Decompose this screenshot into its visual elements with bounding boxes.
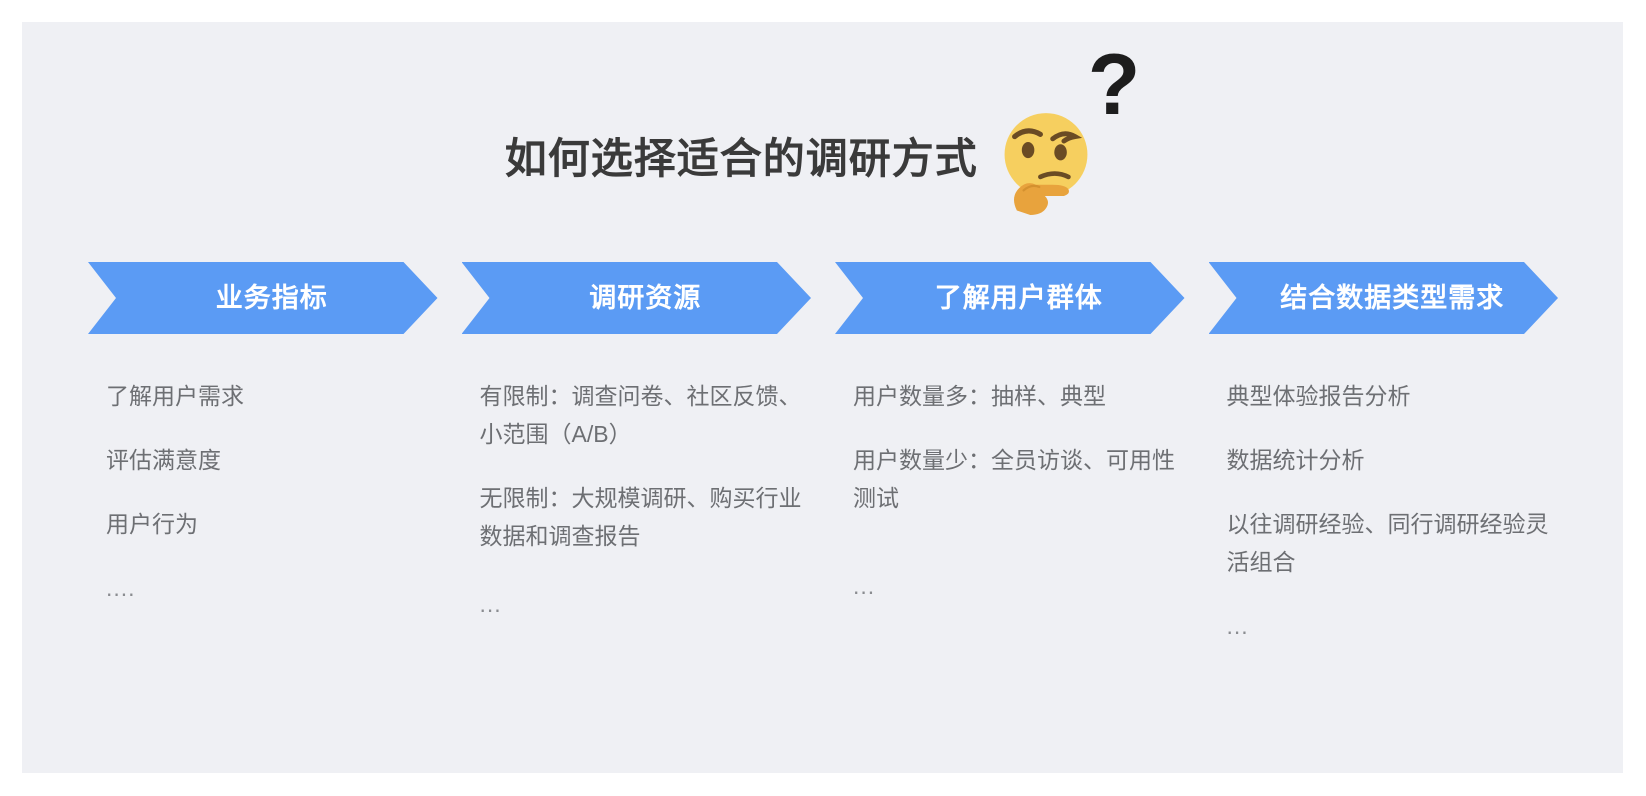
step-banner-row: 业务指标 调研资源 了解用户群体 结合数据类型需求	[88, 262, 1558, 338]
step-column-4: 典型体验报告分析 数据统计分析 以往调研经验、同行调研经验灵活组合 ...	[1209, 377, 1559, 717]
step-banner-3[interactable]: 了解用户群体	[835, 262, 1185, 334]
step-banner-label-1: 业务指标	[198, 285, 328, 312]
step-ellipsis: ...	[480, 585, 804, 623]
step-item: 以往调研经验、同行调研经验灵活组合	[1227, 505, 1551, 581]
step-ellipsis: ...	[1227, 607, 1551, 645]
step-item: 用户数量多：抽样、典型	[853, 377, 1177, 415]
step-ellipsis: ...	[853, 567, 1177, 605]
thinking-face-emoji	[990, 103, 1102, 215]
step-banner-label-3: 了解用户群体	[917, 285, 1103, 312]
step-banner-label-4: 结合数据类型需求	[1262, 285, 1504, 312]
page-title: 如何选择适合的调研方式	[505, 138, 978, 180]
step-item: 无限制：大规模调研、购买行业数据和调查报告	[480, 479, 804, 555]
step-item: 了解用户需求	[106, 377, 430, 415]
content-card: 如何选择适合的调研方式	[22, 22, 1623, 773]
step-item: 数据统计分析	[1227, 441, 1551, 479]
step-banner-2[interactable]: 调研资源	[462, 262, 812, 334]
step-item: 用户数量少：全员访谈、可用性测试	[853, 441, 1177, 517]
step-banner-label-2: 调研资源	[571, 285, 701, 312]
step-item: 有限制：调查问卷、社区反馈、小范围（A/B）	[480, 377, 804, 453]
step-column-2: 有限制：调查问卷、社区反馈、小范围（A/B） 无限制：大规模调研、购买行业数据和…	[462, 377, 812, 717]
step-ellipsis: ....	[106, 569, 430, 607]
title-row: 如何选择适合的调研方式	[22, 94, 1623, 224]
step-banner-4[interactable]: 结合数据类型需求	[1209, 262, 1559, 334]
step-item: 评估满意度	[106, 441, 430, 479]
step-item: 典型体验报告分析	[1227, 377, 1551, 415]
slide-root: 如何选择适合的调研方式	[0, 0, 1646, 796]
step-content-columns: 了解用户需求 评估满意度 用户行为 .... 有限制：调查问卷、社区反馈、小范围…	[88, 377, 1558, 717]
step-column-3: 用户数量多：抽样、典型 用户数量少：全员访谈、可用性测试 ...	[835, 377, 1185, 717]
step-item: 用户行为	[106, 505, 430, 543]
step-banner-1[interactable]: 业务指标	[88, 262, 438, 334]
step-column-1: 了解用户需求 评估满意度 用户行为 ....	[88, 377, 438, 717]
